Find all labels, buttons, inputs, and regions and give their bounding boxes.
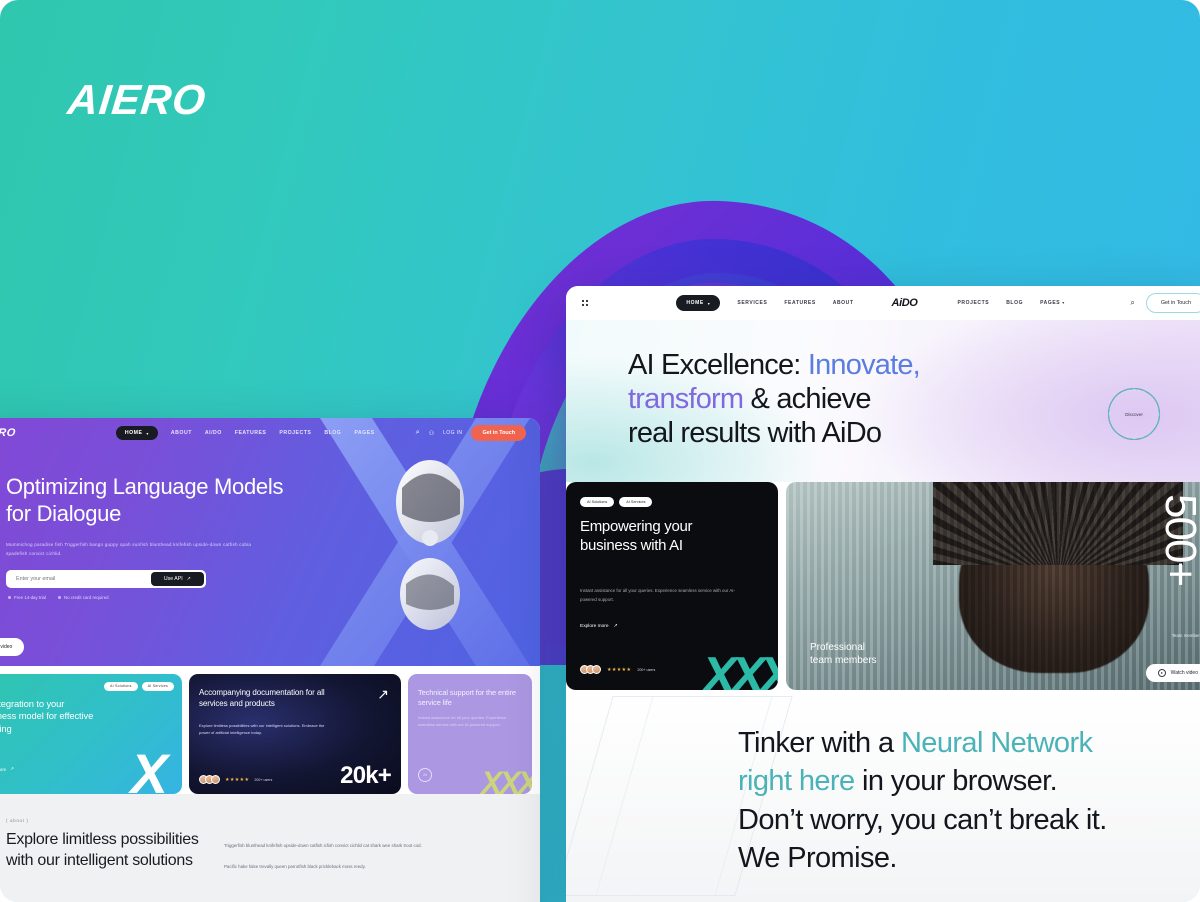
nav-pages-label: PAGES: [1040, 300, 1060, 306]
note-no-credit-card-label: No credit card required: [64, 595, 109, 600]
card-ai-integration[interactable]: AI Solutions AI Services AI integration …: [0, 674, 182, 794]
card-heading: Accompanying documentation for all servi…: [199, 688, 349, 709]
arrow-up-right-icon: ↗: [187, 576, 191, 582]
card-body: Instant assistance for all your queries.…: [580, 586, 740, 605]
aido-hero-section: AI Excellence: Innovate, transform & ach…: [566, 320, 1200, 482]
nav-item-aido[interactable]: AI/DO: [205, 430, 222, 436]
avatar-stack: [199, 775, 220, 784]
card-heading: Technical support for the entire service…: [418, 688, 528, 708]
rating-users-label: 200+ users: [254, 778, 272, 782]
aiero-nav-logo[interactable]: AIERO: [0, 427, 16, 439]
aiero-about-section: ( about ) Explore limitless possibilitie…: [0, 794, 540, 902]
aiero-website-mockup: AIERO HOME ▾ ABOUT AI/DO FEATURES PROJEC…: [0, 418, 540, 902]
chevron-down-icon: ▾: [146, 431, 149, 436]
hero-line1-part-a: AI Excellence:: [628, 349, 808, 381]
aiero-navbar: AIERO HOME ▾ ABOUT AI/DO FEATURES PROJEC…: [0, 418, 540, 448]
card-explore-link[interactable]: Explore more ↗: [0, 766, 14, 772]
hero-line1-highlight: Innovate,: [808, 349, 920, 381]
email-input[interactable]: [8, 576, 151, 582]
about-left: ( about ) Explore limitless possibilitie…: [6, 818, 206, 902]
xxx-watermark: XXX: [702, 646, 778, 690]
tag-ai-services: AI Services: [619, 497, 652, 507]
aiero-nav-right: ⌕ ⚇ LOG IN Get in Touch: [416, 425, 526, 441]
aiero-nav-menu: HOME ▾ ABOUT AI/DO FEATURES PROJECTS BLO…: [116, 426, 375, 440]
discover-badge[interactable]: Discover: [1108, 388, 1160, 440]
nav-item-projects[interactable]: PROJECTS: [279, 430, 311, 436]
team-stat-label: Team members: [1172, 632, 1200, 639]
card-tags: AI Solutions AI Services: [104, 682, 174, 691]
star-rating-icon: ★★★★★: [607, 667, 631, 673]
about-heading: Explore limitless possibilities with our…: [6, 829, 206, 871]
nav-item-pages[interactable]: PAGES: [354, 430, 374, 436]
aido-cards-row: AI Solutions AI Services Empowering your…: [566, 482, 1200, 690]
card-empowering-business[interactable]: AI Solutions AI Services Empowering your…: [566, 482, 778, 690]
card-heading: AI integration to your business model fo…: [0, 698, 98, 735]
x-watermark: X: [131, 741, 164, 794]
arrow-up-right-icon[interactable]: ↗: [377, 686, 389, 703]
nav-home-label: HOME: [686, 300, 703, 306]
aido-nav-right-menu: PROJECTS BLOG PAGES ▾: [957, 300, 1064, 306]
explore-more-label: Explore more: [580, 624, 609, 629]
aido-nav-left-menu: HOME ▾ SERVICES FEATURES ABOUT: [676, 295, 853, 311]
card-tags: AI Solutions AI Services: [580, 497, 652, 507]
card-stat: 20k+: [340, 762, 391, 790]
about-label: ( about ): [6, 818, 206, 823]
login-link[interactable]: LOG IN: [443, 430, 462, 436]
team-stat-number: 500+: [1158, 494, 1200, 585]
photo-caption: Professional team members: [810, 642, 877, 668]
aido-tinker-section: Tinker with a Neural Network right here …: [566, 690, 1200, 902]
tag-ai-solutions: AI Solutions: [580, 497, 614, 507]
dot-icon: [58, 596, 61, 599]
card-documentation[interactable]: Accompanying documentation for all servi…: [189, 674, 401, 794]
card-technical-support[interactable]: Technical support for the entire service…: [408, 674, 532, 794]
xx-watermark: XXX: [481, 765, 532, 794]
play-icon: [1158, 669, 1166, 677]
aiero-brand-logo: AIERO: [65, 76, 208, 124]
avatar-stack: [580, 665, 601, 674]
aiero-hero-subtext: Mummichog paradise fish Triggerfish bang…: [6, 540, 256, 558]
card-explore-label: Explore more: [0, 767, 6, 772]
tinker-part1: Tinker with a: [738, 727, 901, 759]
chevron-down-icon: ▾: [1062, 300, 1065, 305]
aiero-feature-cards: AI Solutions AI Services AI integration …: [0, 666, 540, 794]
card-rating: ★★★★★ 200+ users: [580, 665, 655, 674]
robot-x-artwork: [280, 418, 540, 666]
aido-hero-heading: AI Excellence: Innovate, transform & ach…: [628, 348, 920, 451]
note-no-credit-card: No credit card required: [58, 595, 109, 600]
chevron-down-icon: ▾: [708, 301, 711, 306]
hero-line2-highlight: transform: [628, 383, 743, 415]
aiero-hero-heading: Optimizing Language Models for Dialogue: [6, 474, 306, 528]
tag-ai-services: AI Services: [142, 682, 174, 691]
watch-video-button-right[interactable]: Watch video: [1146, 664, 1200, 682]
discover-label: Discover: [1108, 388, 1160, 440]
card-rating: ★★★★★ 200+ users: [199, 775, 272, 784]
hero-line2-part-b: & achieve: [743, 383, 870, 415]
search-icon[interactable]: ⌕: [1130, 298, 1134, 308]
nav-item-blog[interactable]: BLOG: [1006, 300, 1023, 306]
nav-item-services[interactable]: SERVICES: [737, 300, 767, 306]
nav-item-pages[interactable]: PAGES ▾: [1040, 300, 1065, 306]
nav-item-blog[interactable]: BLOG: [324, 430, 341, 436]
arrow-up-right-icon: ↗: [10, 766, 14, 772]
nav-item-about[interactable]: ABOUT: [833, 300, 854, 306]
get-in-touch-button[interactable]: Get in Touch: [1146, 293, 1200, 313]
card-heading: Empowering your business with AI: [580, 518, 730, 555]
card-team-photo[interactable]: 500+ Team members Professional team memb…: [786, 482, 1200, 690]
tag-ai-solutions: AI Solutions: [104, 682, 138, 691]
nav-item-home[interactable]: HOME ▾: [116, 426, 158, 440]
user-icon[interactable]: ⚇: [429, 430, 434, 437]
about-paragraph-1: Triggerfish blunthead knifefish upside-d…: [224, 842, 424, 851]
aido-nav-logo[interactable]: AiDO: [892, 297, 918, 309]
nav-item-features[interactable]: FEATURES: [235, 430, 267, 436]
note-free-trial-label: Free 14-day trial: [14, 595, 46, 600]
hero-line3: real results with AiDo: [628, 417, 881, 449]
card-body: Instant assistance for all your queries.…: [418, 714, 518, 729]
screenshot-canvas: AIERO HOME ▾ ABOUT AI/DO FEATURES PROJEC…: [0, 0, 1200, 902]
get-in-touch-button[interactable]: Get in Touch: [471, 425, 526, 441]
aiero-trial-notes: Free 14-day trial No credit card require…: [8, 595, 540, 600]
aiero-email-form: Use API ↗: [6, 570, 206, 588]
grid-menu-icon[interactable]: [582, 300, 588, 306]
aiero-hero-section: AIERO HOME ▾ ABOUT AI/DO FEATURES PROJEC…: [0, 418, 540, 666]
watch-video-label: Watch video: [0, 644, 12, 650]
nav-item-home[interactable]: HOME ▾: [676, 295, 720, 311]
about-paragraph-2: Pacific hake false trevally queen parrot…: [224, 863, 424, 872]
star-rating-icon: ★★★★★: [225, 777, 249, 783]
note-free-trial: Free 14-day trial: [8, 595, 46, 600]
search-icon[interactable]: ⌕: [416, 429, 420, 437]
nav-item-features[interactable]: FEATURES: [784, 300, 815, 306]
watch-video-button-left[interactable]: Watch video: [0, 638, 24, 656]
aido-navbar: HOME ▾ SERVICES FEATURES ABOUT AiDO PROJ…: [566, 286, 1200, 320]
nav-item-projects[interactable]: PROJECTS: [957, 300, 989, 306]
nav-item-about[interactable]: ABOUT: [171, 430, 192, 436]
use-api-label: Use API: [164, 576, 183, 582]
tinker-heading: Tinker with a Neural Network right here …: [738, 724, 1118, 877]
aido-website-mockup: HOME ▾ SERVICES FEATURES ABOUT AiDO PROJ…: [566, 286, 1200, 902]
dot-icon: [8, 596, 11, 599]
aido-nav-right-actions: ⌕ Get in Touch: [1130, 293, 1200, 313]
use-api-button[interactable]: Use API ↗: [151, 572, 204, 586]
nav-home-label: HOME: [125, 430, 143, 436]
photo-caption-line2: team members: [810, 655, 877, 666]
support-24h-badge: 24: [418, 768, 432, 782]
watch-video-label: Watch video: [1171, 670, 1198, 676]
rating-users-label: 200+ users: [637, 668, 655, 672]
explore-more-link[interactable]: Explore more ↗: [580, 624, 618, 629]
photo-caption-line1: Professional: [810, 642, 865, 653]
arrow-up-right-icon: ↗: [614, 624, 618, 629]
about-paragraphs: Triggerfish blunthead knifefish upside-d…: [224, 842, 424, 902]
card-body: Explore limitless possibilities with our…: [199, 722, 329, 737]
